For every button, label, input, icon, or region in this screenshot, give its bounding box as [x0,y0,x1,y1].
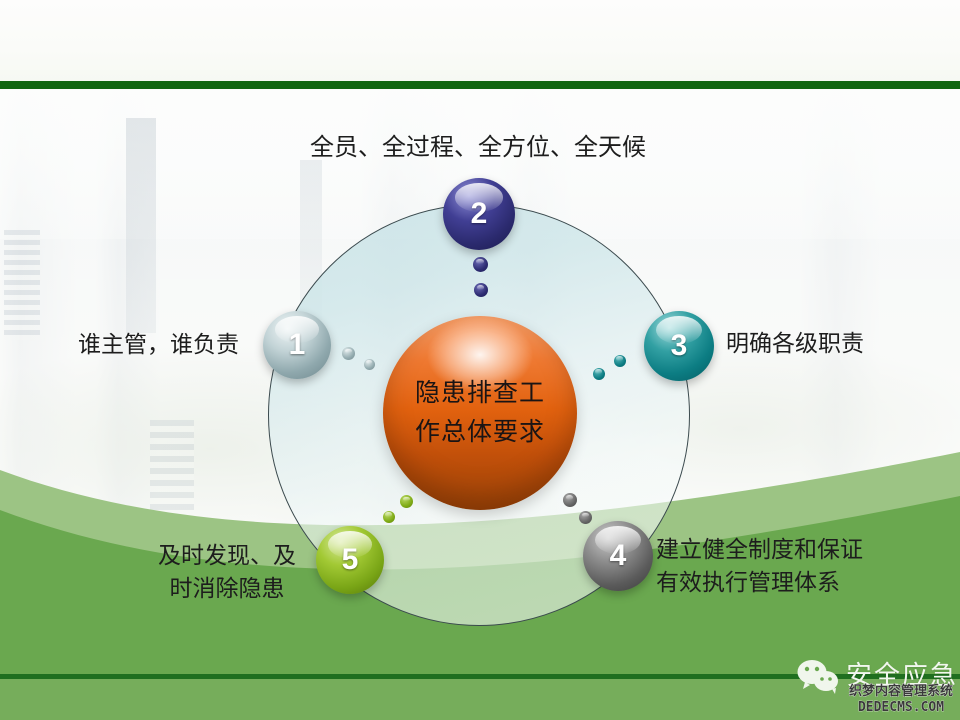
trail-dot-3a [614,355,626,367]
node-sphere-1[interactable]: 1 [263,311,331,379]
trail-dot-3b [593,368,605,380]
trail-dot-4a [563,493,577,507]
center-sphere-line-2: 作总体要求 [415,413,545,452]
watermark-line-1: 织梦内容管理系统 [842,684,960,700]
watermark-line-2: DEDECMS.COM [842,700,960,716]
trail-dot-4b [579,511,592,524]
node-1-number: 1 [289,328,306,362]
center-sphere[interactable]: 隐患排查工 作总体要求 [383,316,577,510]
node-5-label: 及时发现、及 时消除隐患 [158,539,296,605]
trail-dot-5b [383,511,395,523]
node-3-number: 3 [671,329,688,363]
node-sphere-2[interactable]: 2 [443,178,515,250]
heading-top: 全员、全过程、全方位、全天候 [310,131,646,164]
center-sphere-line-1: 隐患排查工 [415,374,545,413]
node-4-number: 4 [610,539,627,573]
node-4-label: 建立健全制度和保证 有效执行管理体系 [656,533,863,599]
trail-dot-2b [474,283,488,297]
trail-dot-2a [473,257,488,272]
node-5-number: 5 [342,543,359,577]
node-sphere-5[interactable]: 5 [316,526,384,594]
wechat-icon [796,657,840,695]
node-2-number: 2 [471,197,488,231]
node-1-label: 谁主管，谁负责 [78,328,239,361]
node-sphere-4[interactable]: 4 [583,521,653,591]
slide-canvas: 隐患排查工 作总体要求 1 2 3 4 5 全员、全过程、全方位、全天候 谁主管… [0,0,960,720]
watermark: 织梦内容管理系统 DEDECMS.COM [842,684,960,716]
trail-dot-1b [364,359,375,370]
node-sphere-3[interactable]: 3 [644,311,714,381]
node-3-label: 明确各级职责 [726,327,864,360]
trail-dot-1a [342,347,355,360]
trail-dot-5a [400,495,413,508]
